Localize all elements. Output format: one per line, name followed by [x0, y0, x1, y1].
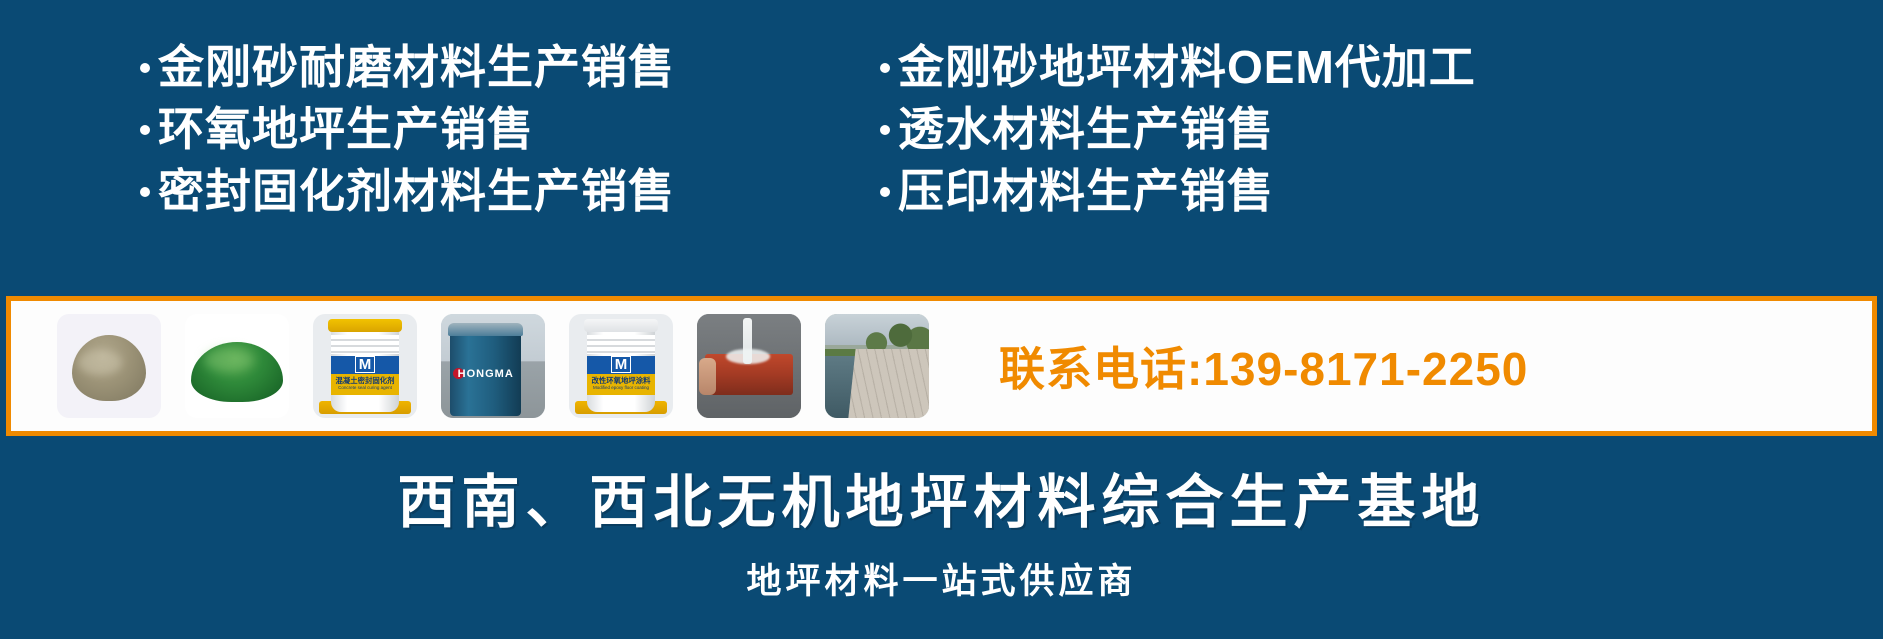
- service-label: 压印材料生产销售: [898, 160, 1274, 222]
- pail-label-en: Modified epoxy floor coating: [593, 385, 649, 391]
- hand-icon: [699, 358, 716, 395]
- bullet-dot-icon: [880, 187, 890, 197]
- pail-rings-icon: [331, 335, 400, 354]
- pail-brand-band: M: [587, 356, 656, 374]
- service-item: 透水材料生产销售: [880, 98, 1883, 160]
- pail-label: M 混凝土密封固化剂 Concrete seal curing agent: [331, 356, 400, 396]
- pail-label-cn: 混凝土密封固化剂: [336, 376, 395, 384]
- bullet-dot-icon: [140, 63, 150, 73]
- service-item: 密封固化剂材料生产销售: [140, 160, 870, 222]
- drum-lid-icon: [448, 323, 523, 335]
- product-showcase-panel: M 混凝土密封固化剂 Concrete seal curing agent HO…: [6, 296, 1877, 436]
- service-label: 环氧地坪生产销售: [158, 98, 534, 160]
- services-list: 金刚砂耐磨材料生产销售 环氧地坪生产销售 密封固化剂材料生产销售 金刚砂地坪材料…: [0, 36, 1883, 222]
- product-photo-sealer-pail: M 混凝土密封固化剂 Concrete seal curing agent: [313, 314, 417, 418]
- footer-headline: 西南、西北无机地坪材料综合生产基地: [0, 455, 1883, 539]
- product-photo-permeable-block: [697, 314, 801, 418]
- grey-powder-icon: [72, 335, 146, 401]
- pail-label-cn: 改性环氧地坪涂料: [592, 376, 651, 384]
- bullet-dot-icon: [140, 187, 150, 197]
- services-column-left: 金刚砂耐磨材料生产销售 环氧地坪生产销售 密封固化剂材料生产销售: [0, 36, 870, 222]
- service-item: 压印材料生产销售: [880, 160, 1883, 222]
- bullet-dot-icon: [880, 125, 890, 135]
- paving-icon: [848, 349, 929, 418]
- product-photo-hongma-drum: HONGMA: [441, 314, 545, 418]
- contact-phone[interactable]: 联系电话:139-8171-2250: [999, 333, 1528, 399]
- brand-m-logo-icon: M: [355, 356, 376, 373]
- pail-brand-band: M: [331, 356, 400, 374]
- green-powder-icon: [191, 342, 283, 402]
- bullet-dot-icon: [140, 125, 150, 135]
- service-label: 透水材料生产销售: [898, 98, 1274, 160]
- service-label: 密封固化剂材料生产销售: [158, 160, 675, 222]
- pail-lid-icon: [584, 319, 659, 331]
- services-column-right: 金刚砂地坪材料OEM代加工 透水材料生产销售 压印材料生产销售: [870, 36, 1883, 222]
- product-photo-stamped-walkway: [825, 314, 929, 418]
- service-label: 金刚砂地坪材料OEM代加工: [898, 36, 1476, 98]
- bullet-dot-icon: [880, 63, 890, 73]
- drum-brand-label: HONGMA: [452, 368, 519, 380]
- pail-rings-icon: [587, 335, 656, 354]
- service-item: 金刚砂耐磨材料生产销售: [140, 36, 870, 98]
- footer-subline: 地坪材料一站式供应商: [0, 553, 1883, 604]
- service-label: 金刚砂耐磨材料生产销售: [158, 36, 675, 98]
- brand-m-logo-icon: M: [611, 356, 632, 373]
- advertisement-banner: 金刚砂耐磨材料生产销售 环氧地坪生产销售 密封固化剂材料生产销售 金刚砂地坪材料…: [0, 0, 1883, 639]
- product-photo-epoxy-pail: M 改性环氧地坪涂料 Modified epoxy floor coating: [569, 314, 673, 418]
- product-thumbnail-strip: M 混凝土密封固化剂 Concrete seal curing agent HO…: [11, 314, 929, 418]
- service-item: 环氧地坪生产销售: [140, 98, 870, 160]
- pail-lid-icon: [328, 319, 403, 331]
- service-item: 金刚砂地坪材料OEM代加工: [880, 36, 1883, 98]
- pail-label-en: Concrete seal curing agent: [338, 385, 392, 391]
- water-splash-icon: [726, 349, 770, 364]
- product-photo-green-powder: [185, 314, 289, 418]
- product-photo-grey-powder: [57, 314, 161, 418]
- pail-label: M 改性环氧地坪涂料 Modified epoxy floor coating: [587, 356, 656, 396]
